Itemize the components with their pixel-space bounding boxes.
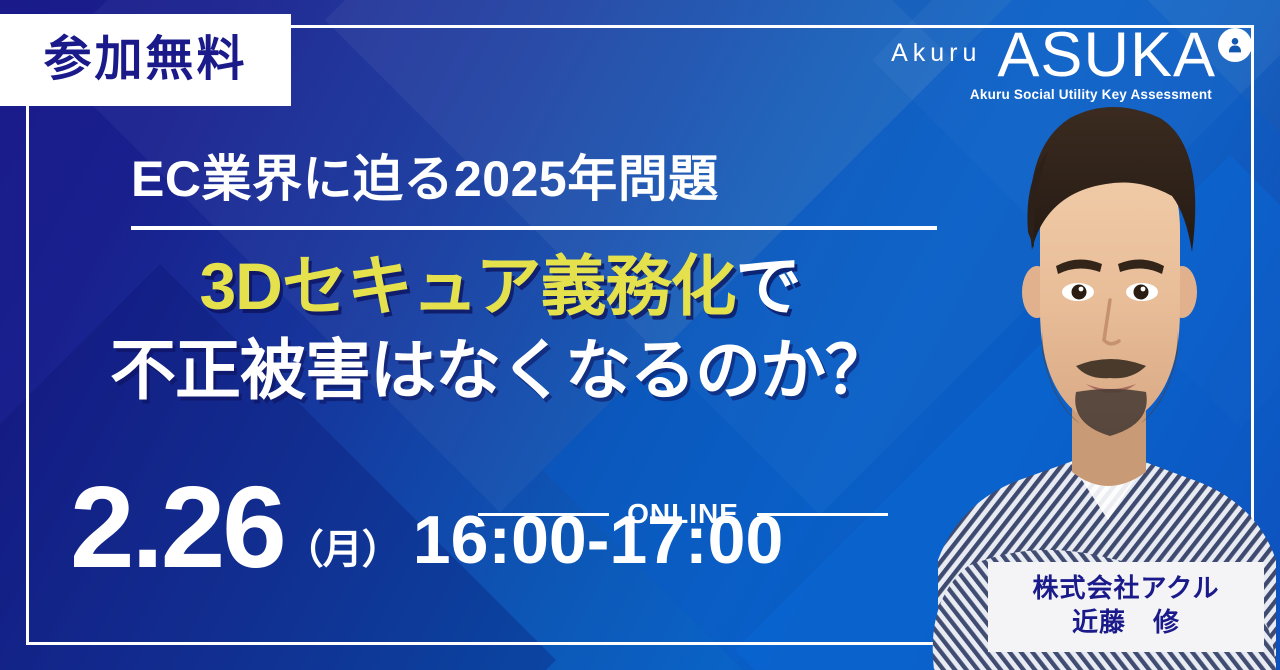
main-title-line2: 不正被害はなくなるのか？: [0, 337, 1000, 403]
event-datetime: 2.26 （月） 16:00-17:00: [70, 478, 783, 578]
main-title: 3Dセキュア義務化で 不正被害はなくなるのか？: [0, 253, 1000, 403]
headline-divider: [131, 226, 937, 230]
free-admission-badge: 参加無料: [0, 14, 291, 106]
speaker-company: 株式会社アクル: [988, 572, 1264, 606]
main-title-suffix: で: [736, 249, 801, 323]
event-date: 2.26: [70, 478, 284, 578]
event-time: 16:00-17:00: [401, 506, 783, 578]
main-title-highlight: 3Dセキュア義務化: [199, 249, 735, 323]
event-weekday: （月）: [284, 530, 401, 578]
free-admission-label: 参加無料: [43, 36, 247, 84]
brand-logo: Akuru ASUKA Akuru Social Utility Key Ass…: [891, 26, 1252, 102]
brand-name: ASUKA: [997, 26, 1216, 86]
speaker-name: 近藤 修: [988, 606, 1264, 640]
main-title-line1: 3Dセキュア義務化で: [0, 253, 1000, 319]
webinar-banner: 参加無料 Akuru ASUKA Akuru Social Utility Ke…: [0, 0, 1280, 670]
person-circle-icon: [1218, 28, 1252, 62]
brand-prefix: Akuru: [891, 39, 981, 68]
headline: EC業界に迫る2025年問題: [131, 139, 941, 211]
speaker-nameplate: 株式会社アクル 近藤 修: [988, 562, 1264, 652]
brand-tagline: Akuru Social Utility Key Assessment: [891, 87, 1212, 102]
brand-logo-row: Akuru ASUKA: [891, 26, 1252, 86]
